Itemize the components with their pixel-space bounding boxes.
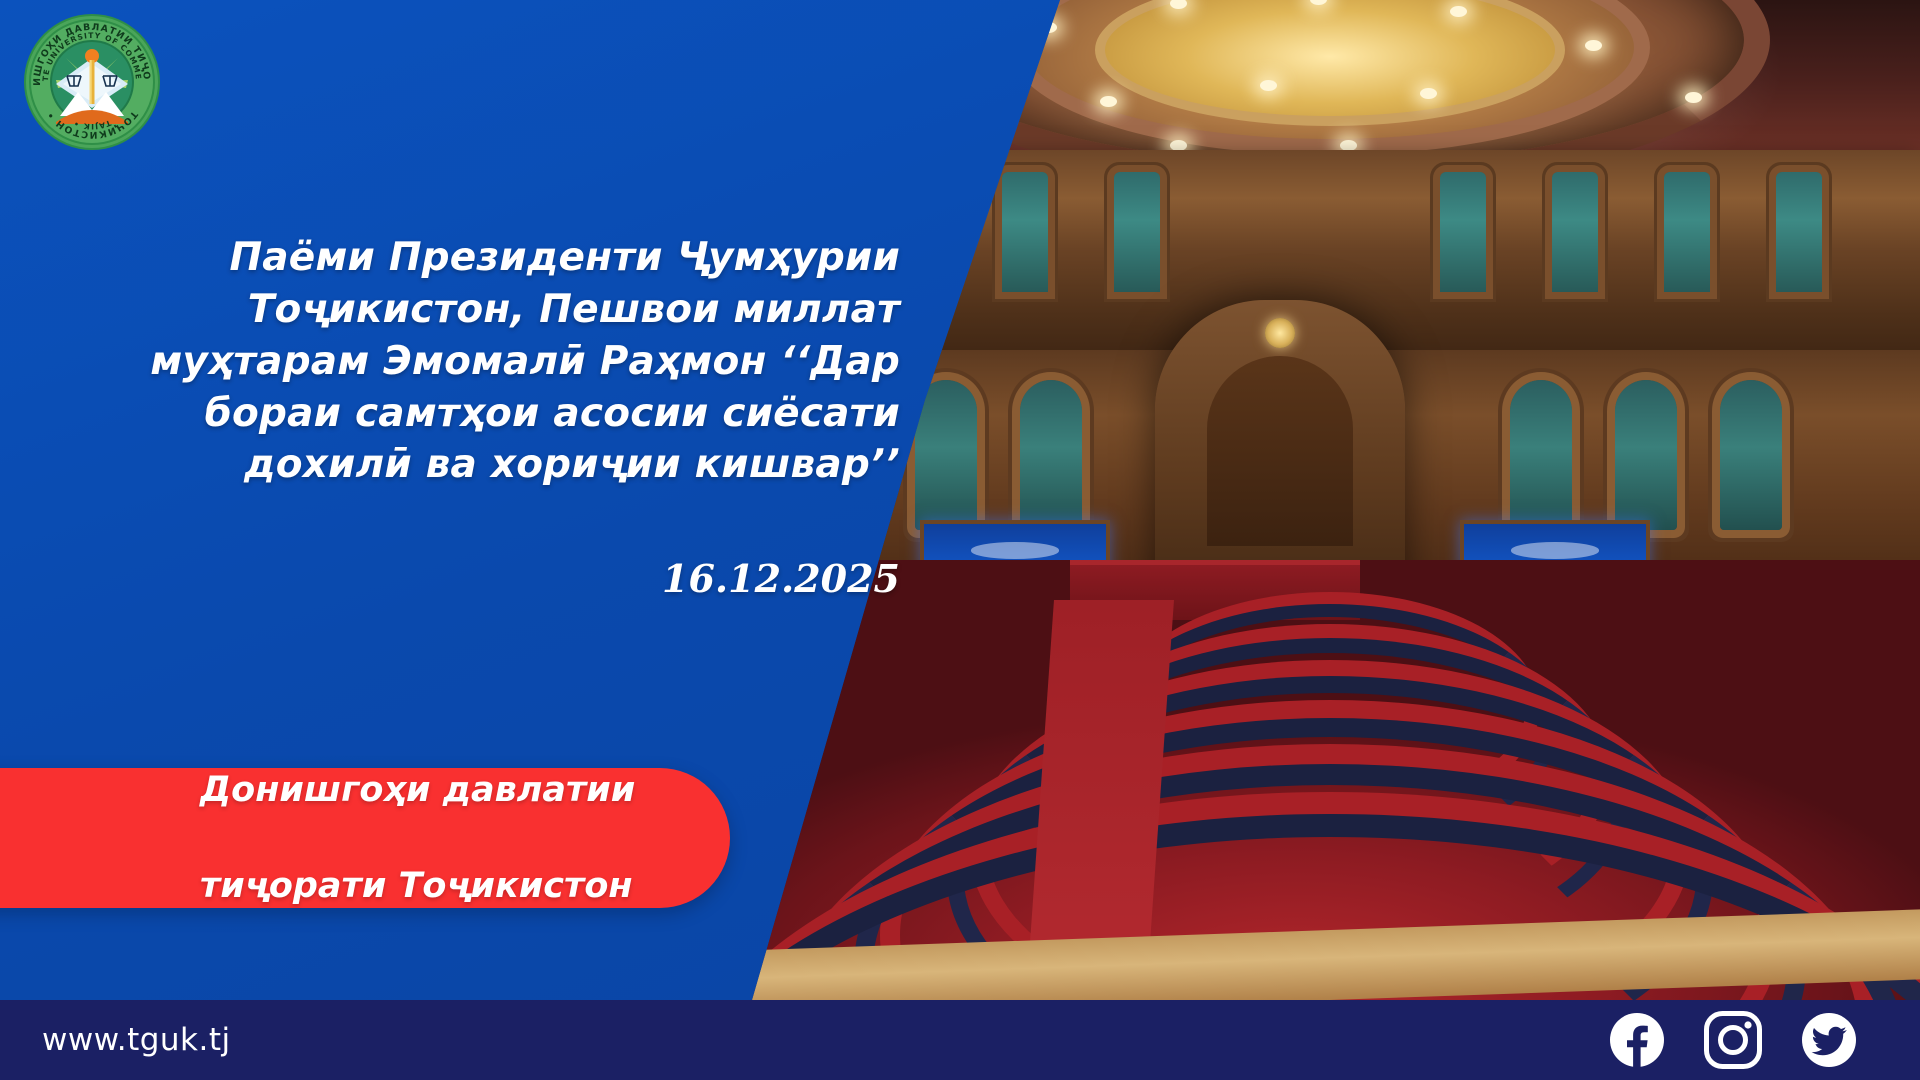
twitter-link[interactable] [1800, 1011, 1858, 1069]
website-url[interactable]: www.tguk.tj [42, 1022, 231, 1058]
ceiling-lamp-icon [1100, 96, 1117, 107]
poster-root: ДОНИШГОҲИ ДАВЛАТИИ ТИҶОРАТИ ТОҶИКИСТОН •… [0, 0, 1920, 1080]
university-name-text: Донишгоҳи давлатиитиҷорати Тоҷикистон [70, 766, 635, 911]
state-emblem-icon [1265, 318, 1295, 348]
facebook-icon [1608, 1011, 1666, 1069]
university-name-banner: Донишгоҳи давлатиитиҷорати Тоҷикистон [0, 768, 730, 908]
university-seal-icon: ДОНИШГОҲИ ДАВЛАТИИ ТИҶОРАТИ ТОҶИКИСТОН •… [22, 12, 162, 152]
ceiling-lamp-icon [1685, 92, 1702, 103]
ceiling-lamp-icon [1420, 88, 1437, 99]
facebook-link[interactable] [1608, 1011, 1666, 1069]
ceiling-lamp-icon [1260, 80, 1277, 91]
banner-line-2: тиҷорати Тоҷикистон [200, 862, 635, 910]
twitter-icon [1800, 1011, 1858, 1069]
instagram-icon [1704, 1011, 1762, 1069]
banner-line-1: Донишгоҳи давлатии [200, 766, 635, 814]
ceiling-lamp-icon [1450, 6, 1467, 17]
instagram-link[interactable] [1704, 1011, 1762, 1069]
footer-bar: www.tguk.tj [0, 1000, 1920, 1080]
page-title: Паёми Президенти Ҷумҳурии Тоҷикистон, Пе… [60, 232, 900, 491]
social-links [1608, 1011, 1858, 1069]
event-date: 16.12.2025 [60, 556, 900, 601]
ceiling-lamp-icon [1585, 40, 1602, 51]
university-logo[interactable]: ДОНИШГОҲИ ДАВЛАТИИ ТИҶОРАТИ ТОҶИКИСТОН •… [22, 12, 162, 152]
